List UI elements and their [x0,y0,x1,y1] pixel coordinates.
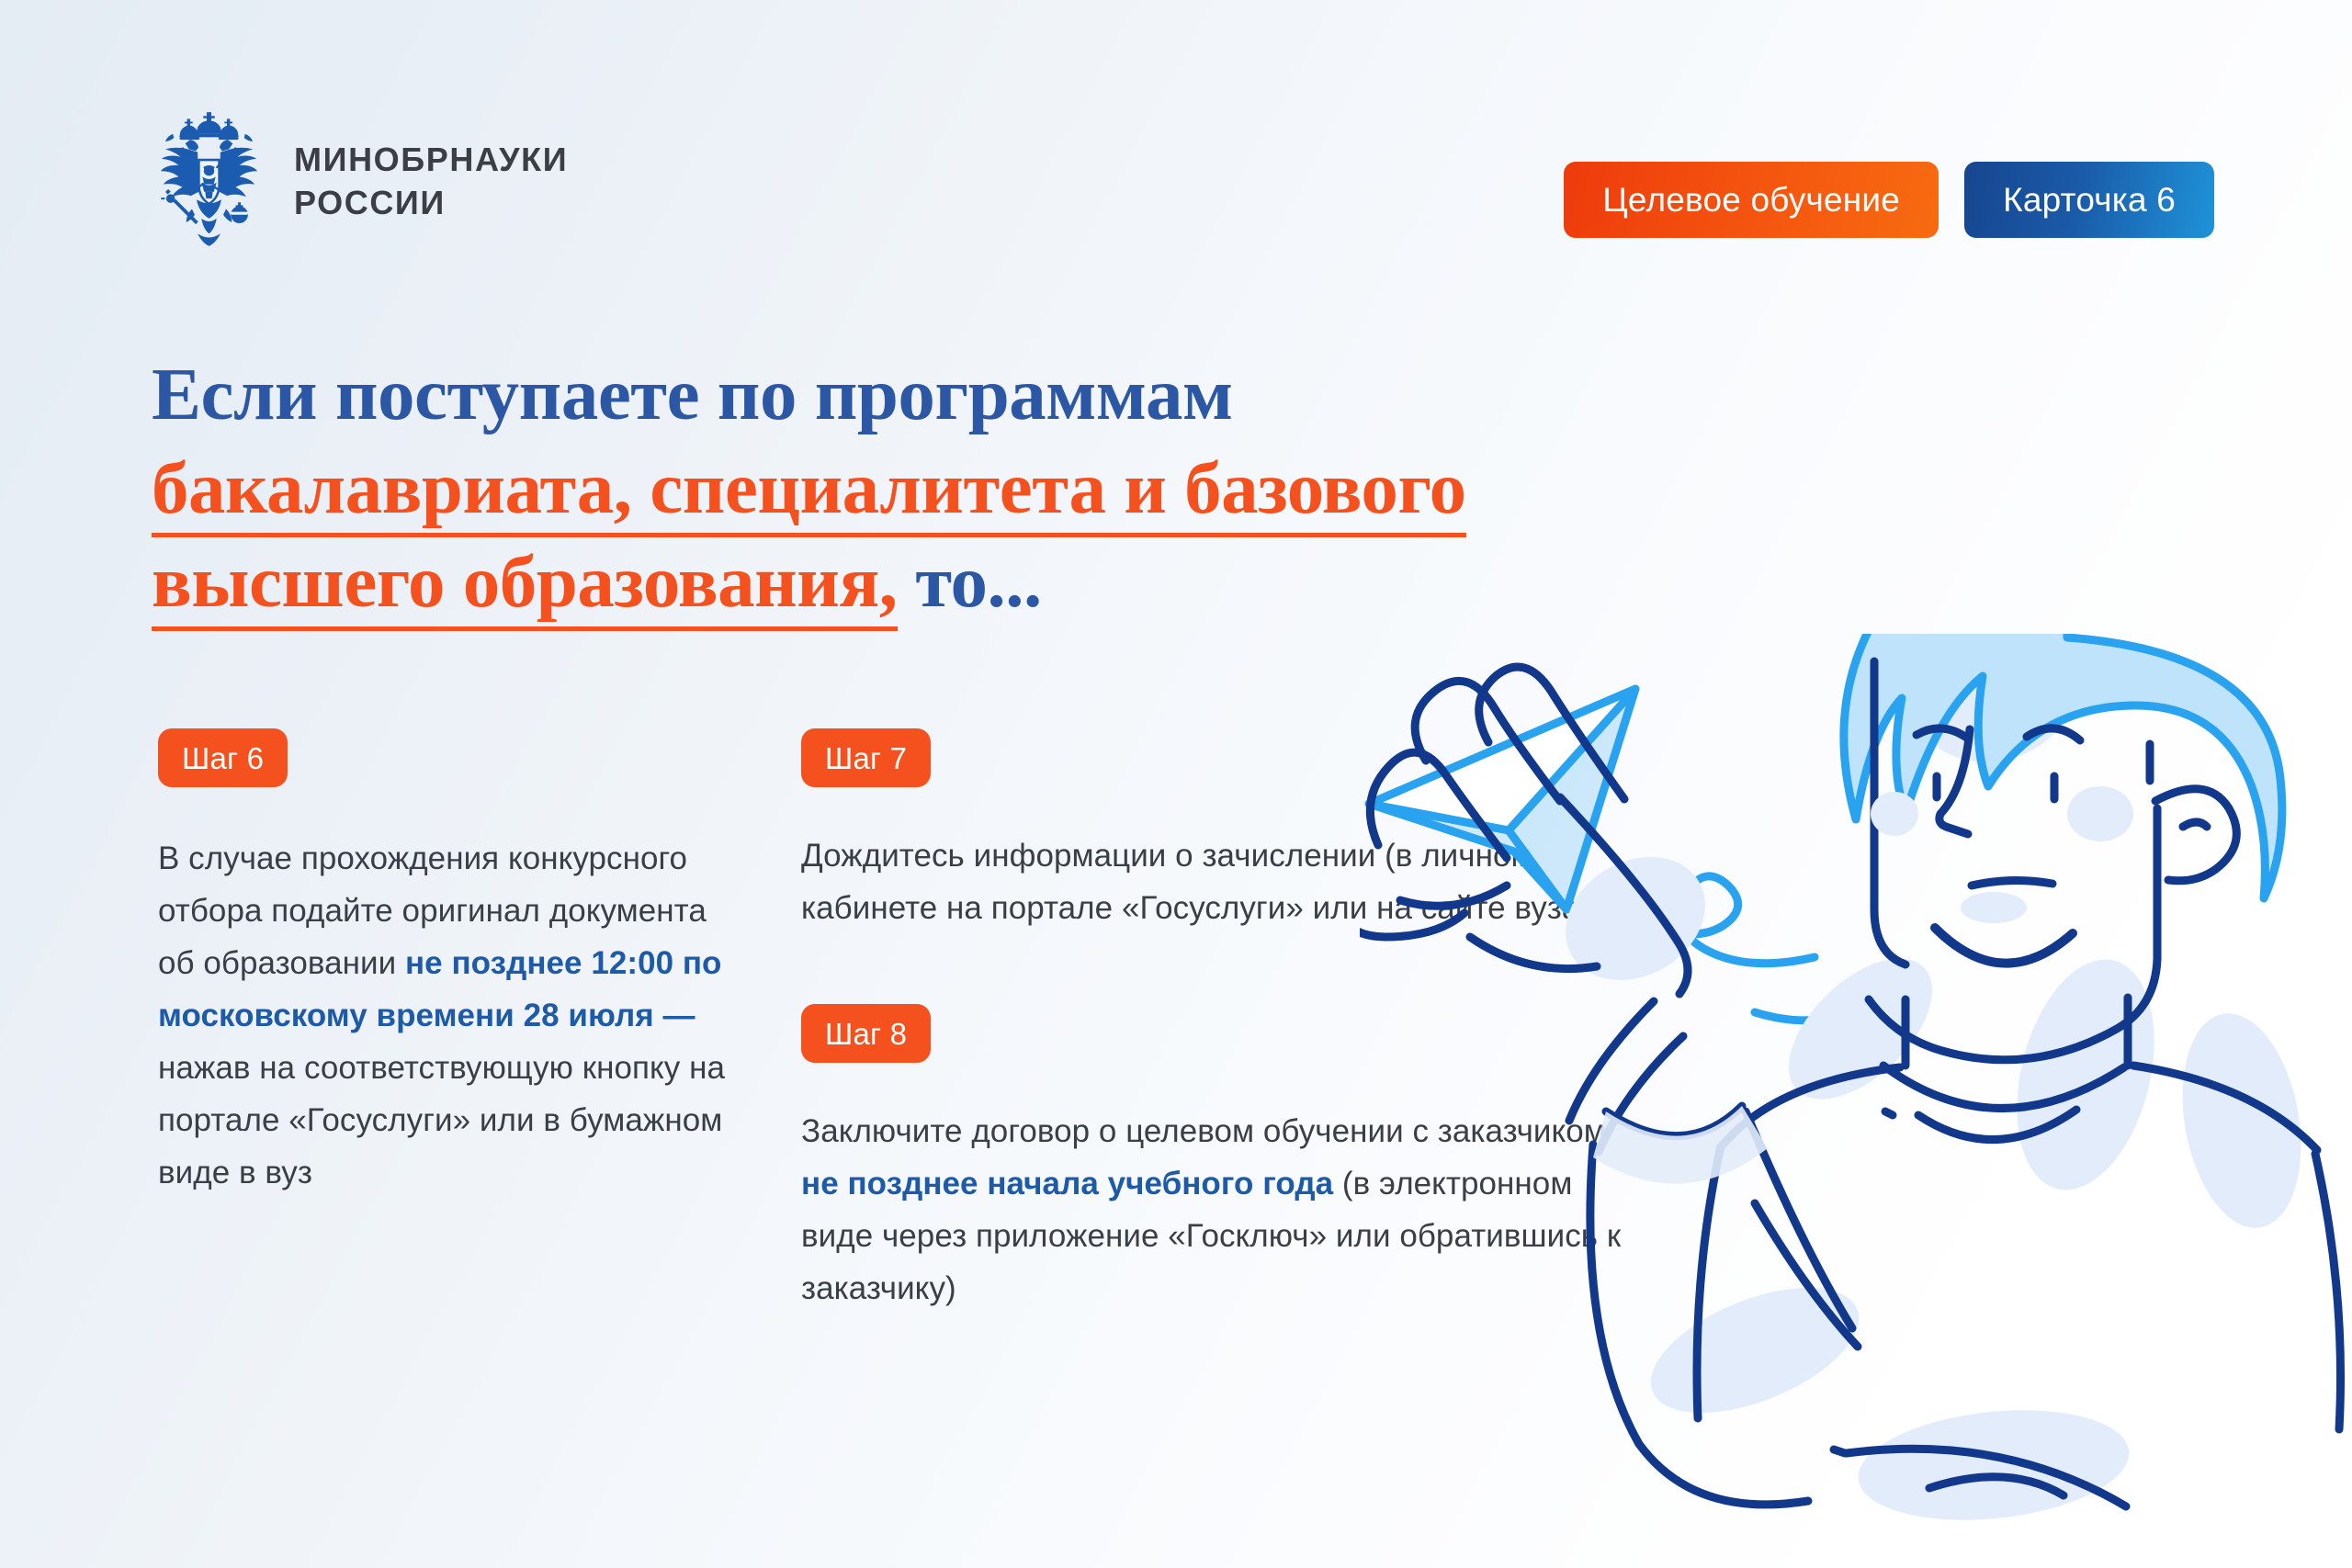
step-text-7: Дождитесь информации о зачислении (в лич… [801,829,1628,934]
step-text-6: В случае прохождения конкурсного отбора … [158,832,728,1199]
headline-line-3-text: высшего образования, [152,540,898,631]
step-8-highlight: не позднее начала учебного года [801,1166,1333,1201]
headline-line-1: Если поступаете по программам [152,347,1824,441]
brand-lockup: МИНОБРНАУКИ РОССИИ [152,108,568,251]
step-pill-6: Шаг 6 [158,728,288,787]
headline-line-2-text: бакалавриата, специалитета и базового [152,446,1466,537]
step-block-8: Шаг 8 Заключите договор о целевом обучен… [801,1004,1628,1314]
headline-line-3: высшего образования, то... [152,535,1824,628]
headline-line-1-text: Если поступаете по программам [152,353,1233,435]
step-text-8: Заключите договор о целевом обучении с з… [801,1105,1628,1314]
steps-column-left: Шаг 6 В случае прохождения конкурсного о… [158,728,728,1199]
poster-canvas: МИНОБРНАУКИ РОССИИ Целевое обучение Карт… [0,0,2352,1568]
badge-card-number[interactable]: Карточка 6 [1964,162,2214,238]
step-7-run-1: Дождитесь информации о зачислении (в лич… [801,838,1590,926]
swirl-trail-icon [1635,876,1839,1021]
header: МИНОБРНАУКИ РОССИИ Целевое обучение Карт… [152,108,2214,228]
step-block-7: Шаг 7 Дождитесь информации о зачислении … [801,728,1628,934]
russian-coat-of-arms-eagle-icon [152,108,266,251]
step-pill-7: Шаг 7 [801,728,931,787]
brand-name: МИНОБРНАУКИ РОССИИ [294,135,568,223]
headline-line-2: бакалавриата, специалитета и базового [152,441,1824,535]
step-block-6: Шаг 6 В случае прохождения конкурсного о… [158,728,728,1199]
steps-column-right: Шаг 7 Дождитесь информации о зачислении … [801,728,1628,1314]
step-6-run-3: нажав на соответствующую кнопку на порта… [158,1050,725,1190]
step-pill-8: Шаг 8 [801,1004,931,1063]
headline-line-3-tail: то... [898,540,1042,623]
badge-topic[interactable]: Целевое обучение [1564,162,1939,238]
step-8-run-1: Заключите договор о целевом обучении с з… [801,1113,1606,1149]
header-badges: Целевое обучение Карточка 6 [1564,162,2214,238]
page-title: Если поступаете по программам бакалавриа… [152,347,1824,628]
